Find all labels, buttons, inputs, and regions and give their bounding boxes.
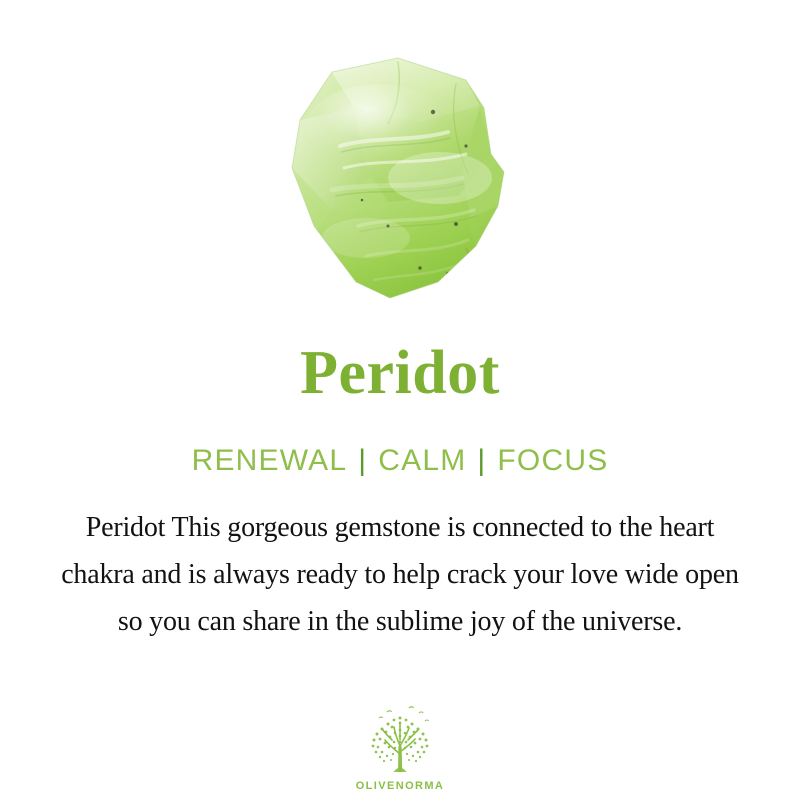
- description-line-2: chakra and is always ready to help crack…: [5, 551, 795, 598]
- keyword-renewal: RENEWAL: [192, 444, 348, 477]
- peridot-crystal-image: [270, 50, 530, 308]
- description-line-1: Peridot This gorgeous gemstone is connec…: [5, 504, 795, 551]
- brand-logo: OLIVENORMA: [0, 702, 800, 792]
- keyword-focus: FOCUS: [497, 444, 608, 477]
- keyword-calm: CALM: [378, 444, 466, 477]
- tree-icon: [357, 702, 443, 778]
- keyword-separator-1: |: [347, 444, 378, 477]
- keyword-separator-2: |: [466, 444, 497, 477]
- description-text: Peridot This gorgeous gemstone is connec…: [5, 504, 795, 645]
- description-line-3: so you can share in the sublime joy of t…: [5, 598, 795, 645]
- brand-wordmark: OLIVENORMA: [356, 780, 445, 792]
- product-info-card: Peridot RENEWAL|CALM|FOCUS Peridot This …: [0, 0, 800, 800]
- hero-image-area: [0, 0, 800, 320]
- page-title: Peridot: [300, 342, 500, 404]
- keyword-list: RENEWAL|CALM|FOCUS: [192, 446, 609, 476]
